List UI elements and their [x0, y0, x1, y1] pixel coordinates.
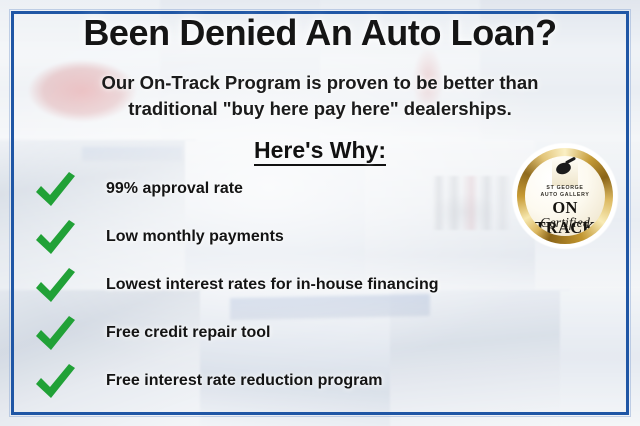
subheading: Our On-Track Program is proven to be bet…	[60, 70, 580, 123]
check-icon	[32, 218, 78, 258]
auto-loan-advertisement: Been Denied An Auto Loan? Our On-Track P…	[0, 0, 640, 426]
benefit-label: Free credit repair tool	[106, 324, 271, 342]
seal-emblem-icon	[552, 158, 578, 186]
benefit-label: 99% approval rate	[106, 180, 243, 198]
ad-content: Been Denied An Auto Loan? Our On-Track P…	[0, 0, 640, 426]
check-icon	[32, 266, 78, 306]
benefit-label: Low monthly payments	[106, 228, 284, 246]
section-heading-text: Here's Why:	[254, 137, 386, 166]
headline: Been Denied An Auto Loan?	[0, 15, 640, 51]
benefit-label: Free interest rate reduction program	[106, 372, 383, 390]
subheading-line-1: Our On-Track Program is proven to be bet…	[60, 70, 580, 96]
list-item: Free interest rate reduction program	[32, 360, 620, 408]
gold-certified-seal-icon: ST GEORGE AUTO GALLERY ON TRACK Certifie…	[512, 143, 618, 249]
subheading-line-2: traditional "buy here pay here" dealersh…	[60, 96, 580, 122]
list-item: Free credit repair tool	[32, 312, 620, 360]
seal-dealer-name: ST GEORGE AUTO GALLERY	[525, 185, 605, 199]
seal-status-text: Certified	[525, 216, 605, 232]
benefit-label: Lowest interest rates for in-house finan…	[106, 276, 439, 294]
check-interest-icon	[32, 362, 78, 402]
list-item: Lowest interest rates for in-house finan…	[32, 264, 620, 312]
check-icon	[32, 314, 78, 354]
seal-dealer-line-1: ST GEORGE	[525, 185, 605, 192]
check-icon	[32, 170, 78, 210]
seal-face: ST GEORGE AUTO GALLERY ON TRACK Certifie…	[525, 156, 605, 236]
